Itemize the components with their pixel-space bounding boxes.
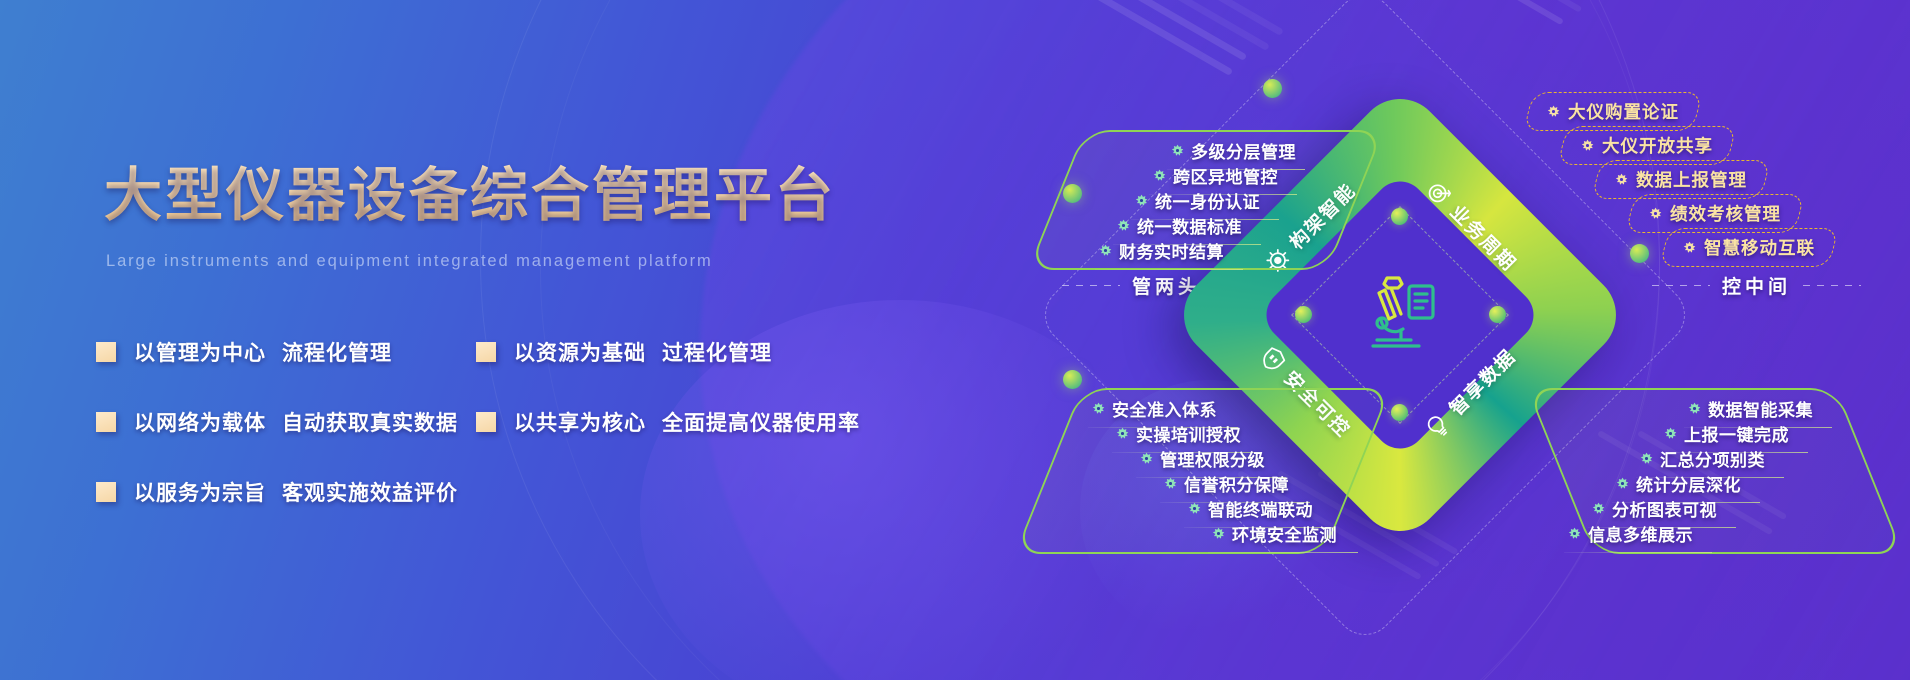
diamond-node <box>1391 404 1408 421</box>
item-label: 信息多维展示 <box>1588 521 1693 546</box>
panel-bottom-left: 安全准入体系 实操培训授权 管理权限分级 信誉积分保障 <box>1048 388 1358 554</box>
item-label: 实操培训授权 <box>1136 421 1241 446</box>
flower-bullet-icon <box>1581 139 1594 152</box>
item-label: 汇总分项别类 <box>1660 446 1765 471</box>
list-item[interactable]: 信息多维展示 <box>1568 521 1693 546</box>
list-item[interactable]: 跨区异地管控 <box>1153 163 1278 188</box>
flower-bullet-icon <box>1592 502 1605 515</box>
panel-items: 数据智能采集 上报一键完成 汇总分项别类 统计分层深化 <box>1560 388 1870 554</box>
flower-bullet-icon <box>1135 194 1148 207</box>
bullet-text: 以共享为核心全面提高仪器使用率 <box>514 407 860 437</box>
glow-node <box>1063 370 1082 389</box>
item-underline <box>1208 552 1358 553</box>
list-item[interactable]: 统一数据标准 <box>1117 213 1242 238</box>
list-item[interactable]: 智能终端联动 <box>1188 496 1313 521</box>
bullet-row: 以服务为宗旨客观实施效益评价 <box>96 465 896 535</box>
square-bullet-icon <box>96 342 116 362</box>
flower-bullet-icon <box>1099 244 1112 257</box>
square-bullet-icon <box>96 412 116 432</box>
caption-right: 控中间 <box>1652 272 1861 299</box>
flower-bullet-icon <box>1615 173 1628 186</box>
item-label: 数据上报管理 <box>1636 167 1747 192</box>
flower-bullet-icon <box>1568 527 1581 540</box>
glow-node <box>1630 244 1649 263</box>
bullet-text: 以服务为宗旨客观实施效益评价 <box>134 477 458 507</box>
pill-item[interactable]: 智慧移动互联 <box>1659 228 1839 267</box>
list-item[interactable]: 分析图表可视 <box>1592 496 1717 521</box>
flower-bullet-icon <box>1171 144 1184 157</box>
flower-bullet-icon <box>1212 527 1225 540</box>
square-bullet-icon <box>476 342 496 362</box>
item-underline <box>1095 269 1243 270</box>
list-item[interactable]: 统计分层深化 <box>1616 471 1741 496</box>
square-bullet-icon <box>96 482 116 502</box>
list-item[interactable]: 安全准入体系 <box>1092 396 1217 421</box>
item-label: 统一身份认证 <box>1155 188 1260 213</box>
item-label: 信誉积分保障 <box>1184 471 1289 496</box>
list-item[interactable]: 财务实时结算 <box>1099 238 1224 263</box>
item-label: 多级分层管理 <box>1191 138 1296 163</box>
diamond-node <box>1489 306 1506 323</box>
bullet-text: 以资源为基础过程化管理 <box>514 337 772 367</box>
item-underline <box>1564 552 1712 553</box>
flower-bullet-icon <box>1664 427 1677 440</box>
flower-bullet-icon <box>1188 502 1201 515</box>
item-label: 环境安全监测 <box>1232 521 1337 546</box>
flower-bullet-icon <box>1616 477 1629 490</box>
hero-text-pane: 大型仪器设备综合管理平台 Large instruments and equip… <box>0 0 900 680</box>
microscope-icon <box>1347 260 1453 366</box>
bullet-row: 以管理为中心流程化管理 以资源为基础过程化管理 <box>96 325 896 395</box>
flower-bullet-icon <box>1688 402 1701 415</box>
flower-bullet-icon <box>1092 402 1105 415</box>
list-item[interactable]: 实操培训授权 <box>1116 421 1241 446</box>
item-label: 智能终端联动 <box>1208 496 1313 521</box>
panel-items: 多级分层管理 跨区异地管控 统一身份认证 统一数据标准 <box>1056 130 1356 270</box>
flower-bullet-icon <box>1683 241 1696 254</box>
item-label: 跨区异地管控 <box>1173 163 1278 188</box>
panel-items: 安全准入体系 实操培训授权 管理权限分级 信誉积分保障 <box>1048 388 1358 554</box>
page-title: 大型仪器设备综合管理平台 <box>104 148 836 232</box>
panel-bottom-right: 数据智能采集 上报一键完成 汇总分项别类 统计分层深化 <box>1560 388 1870 554</box>
flower-bullet-icon <box>1117 219 1130 232</box>
list-item[interactable]: 统一身份认证 <box>1135 188 1260 213</box>
list-item[interactable]: 信誉积分保障 <box>1164 471 1289 496</box>
item-label: 大仪开放共享 <box>1602 133 1713 158</box>
item-label: 财务实时结算 <box>1119 238 1224 263</box>
square-bullet-icon <box>476 412 496 432</box>
flower-bullet-icon <box>1649 207 1662 220</box>
list-item: 以网络为载体自动获取真实数据 <box>96 407 458 437</box>
flower-bullet-icon <box>1164 477 1177 490</box>
dash-line <box>1652 285 1710 286</box>
bullet-row: 以网络为载体自动获取真实数据 以共享为核心全面提高仪器使用率 <box>96 395 896 465</box>
caption-right-label: 控中间 <box>1722 272 1791 299</box>
list-item[interactable]: 上报一键完成 <box>1664 421 1789 446</box>
item-label: 管理权限分级 <box>1160 446 1265 471</box>
panel-top-left: 多级分层管理 跨区异地管控 统一身份认证 统一数据标准 <box>1056 130 1356 270</box>
list-item: 以共享为核心全面提高仪器使用率 <box>476 407 860 437</box>
list-item[interactable]: 管理权限分级 <box>1140 446 1265 471</box>
item-label: 大仪购置论证 <box>1568 99 1679 124</box>
item-label: 统一数据标准 <box>1137 213 1242 238</box>
list-item[interactable]: 汇总分项别类 <box>1640 446 1765 471</box>
diamond-node <box>1295 306 1312 323</box>
list-item: 以服务为宗旨客观实施效益评价 <box>96 477 458 507</box>
flower-bullet-icon <box>1640 452 1653 465</box>
bullet-text: 以管理为中心流程化管理 <box>134 337 392 367</box>
bullet-text: 以网络为载体自动获取真实数据 <box>134 407 458 437</box>
feature-bullet-list: 以管理为中心流程化管理 以资源为基础过程化管理 以网络为载体自动获取真实数据 以… <box>96 325 896 535</box>
flower-bullet-icon <box>1153 169 1166 182</box>
list-item: 以管理为中心流程化管理 <box>96 337 392 367</box>
item-label: 安全准入体系 <box>1112 396 1217 421</box>
item-label: 分析图表可视 <box>1612 496 1717 521</box>
list-item[interactable]: 环境安全监测 <box>1212 521 1337 546</box>
list-item[interactable]: 多级分层管理 <box>1171 138 1296 163</box>
flower-bullet-icon <box>1547 105 1560 118</box>
list-item: 以资源为基础过程化管理 <box>476 337 772 367</box>
item-label: 上报一键完成 <box>1684 421 1789 446</box>
item-label: 数据智能采集 <box>1708 396 1813 421</box>
banner-root: 大型仪器设备综合管理平台 Large instruments and equip… <box>0 0 1910 680</box>
diamond-node <box>1391 208 1408 225</box>
dash-line <box>1803 285 1861 286</box>
item-label: 智慧移动互联 <box>1704 235 1815 260</box>
flower-bullet-icon <box>1140 452 1153 465</box>
item-label: 统计分层深化 <box>1636 471 1741 496</box>
page-subtitle: Large instruments and equipment integrat… <box>106 252 713 271</box>
glow-node <box>1263 79 1282 98</box>
flower-bullet-icon <box>1116 427 1129 440</box>
dash-line <box>1062 285 1120 286</box>
list-item[interactable]: 数据智能采集 <box>1688 396 1813 421</box>
item-label: 绩效考核管理 <box>1670 201 1781 226</box>
